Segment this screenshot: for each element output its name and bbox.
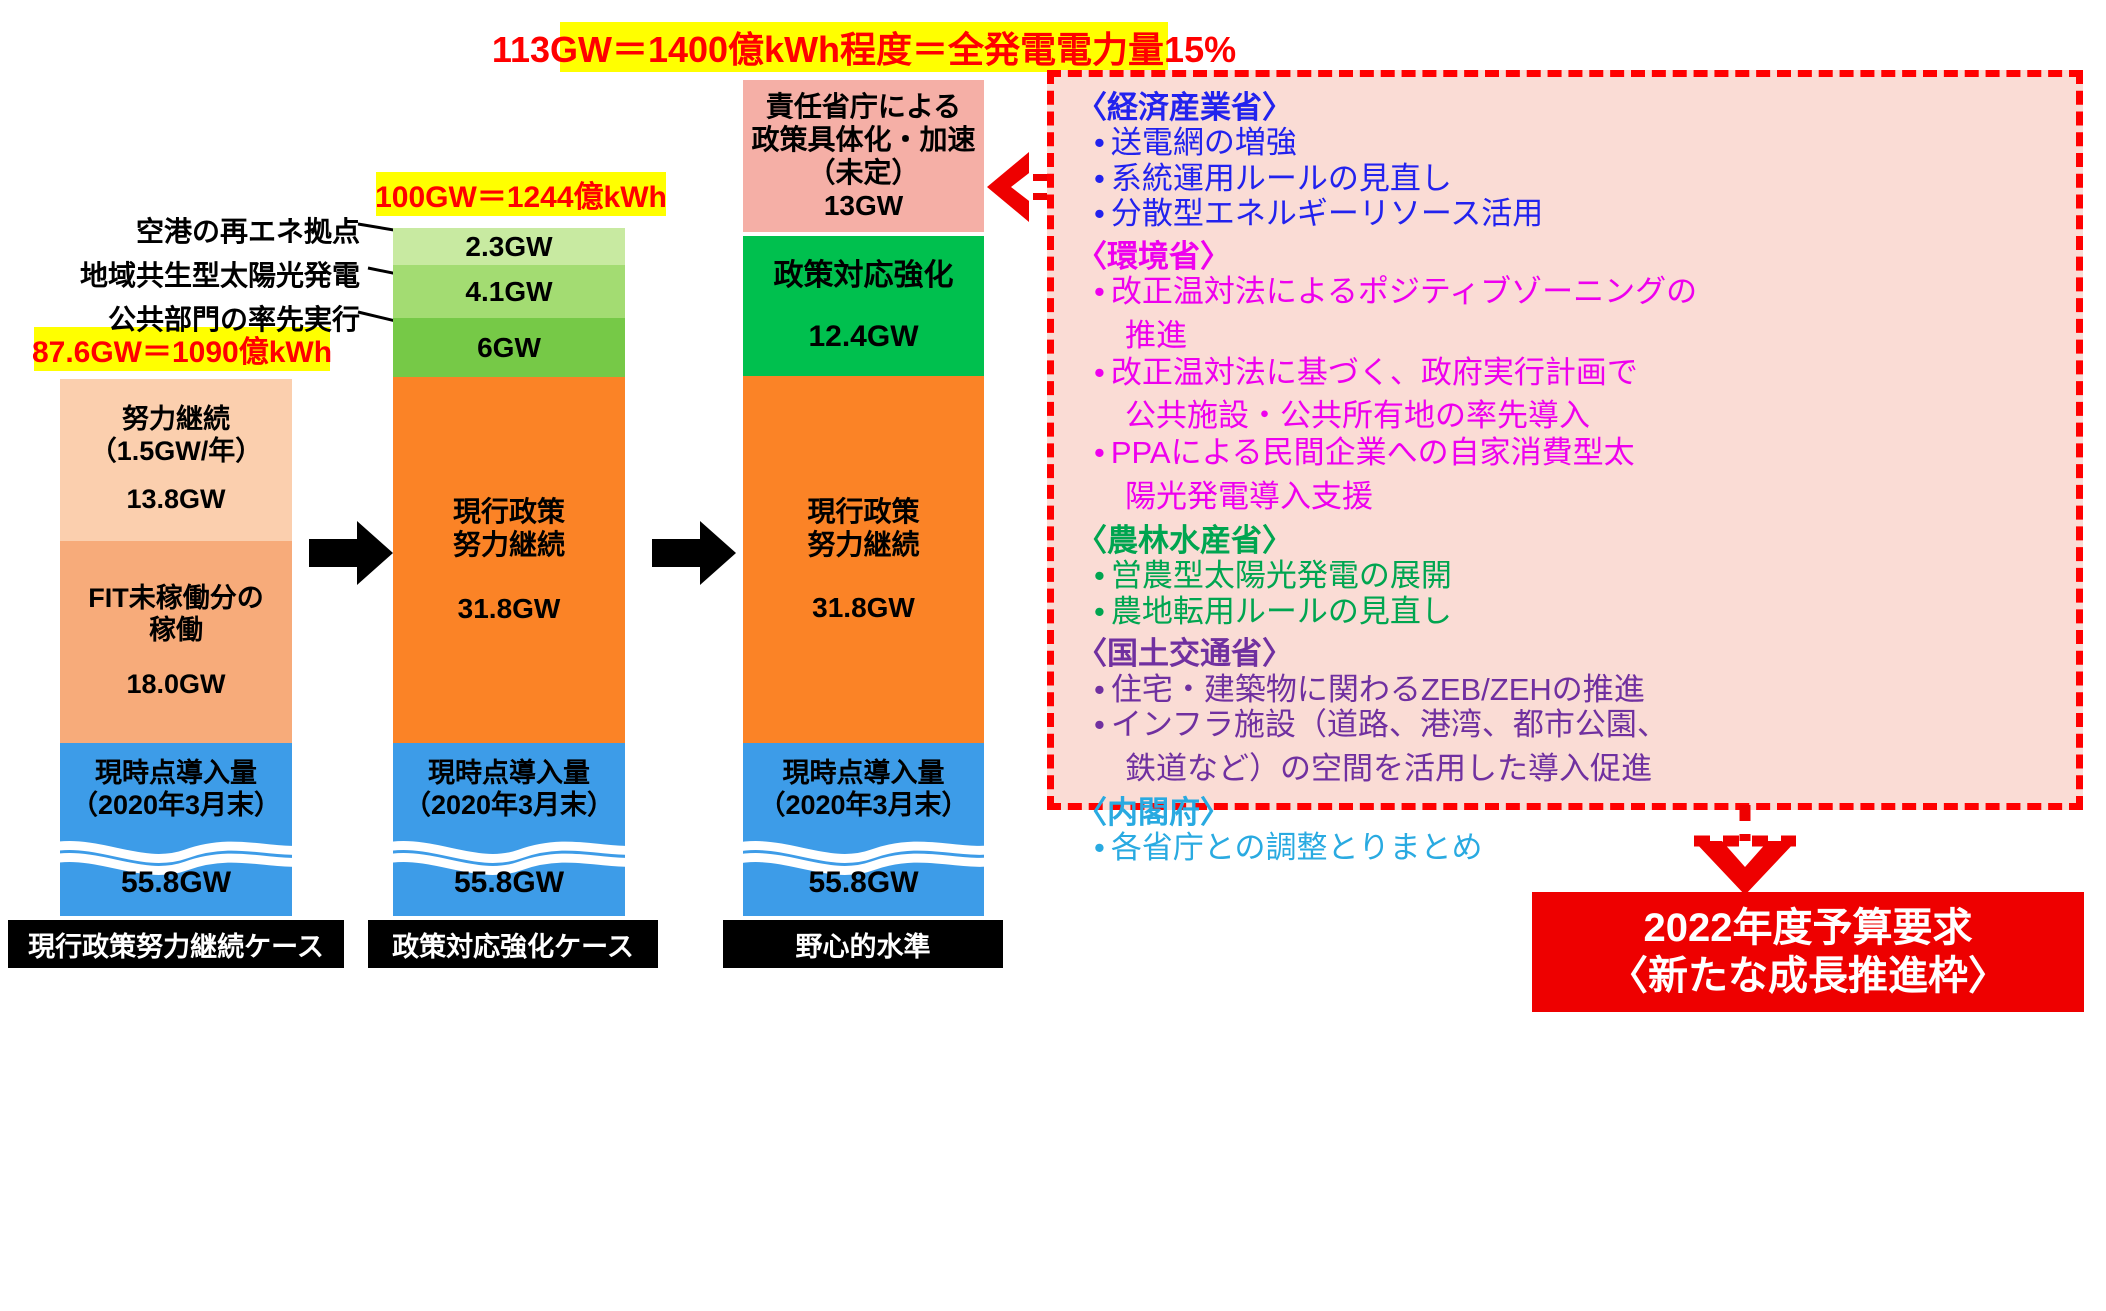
col2-segment-current-sub: （2020年3月末）: [404, 790, 614, 822]
col3-segment-ministry-sub2: （未定）: [807, 156, 919, 189]
col1-segment-fit-value: 18.0GW: [126, 669, 225, 701]
col2-segment-continued-title: 現行政策: [453, 495, 565, 528]
ministry-item: • 改正温対法に基づく、政府実行計画で: [1094, 355, 2056, 391]
col2-segment-public: 6GW: [393, 318, 625, 377]
bullet-icon: •: [1094, 196, 1105, 232]
col3-segment-ministry-title: 責任省庁による: [766, 90, 961, 123]
col1-segment-current-sub: （2020年3月末）: [71, 790, 281, 822]
ministry-item: • PPAによる民間企業への自家消費型太: [1094, 435, 2056, 471]
col2-segment-public-value: 6GW: [477, 331, 541, 364]
col1-segment-effort-value: 13.8GW: [126, 484, 225, 516]
ministry-head-maff: 〈農林水産省〉: [1076, 524, 2056, 558]
callout-public-sector: 公共部門の率先実行: [90, 298, 360, 332]
bullet-icon: •: [1094, 707, 1105, 743]
col2-segment-current-title: 現時点導入量: [428, 758, 590, 790]
banner-strengthened-total: 100GW＝1244億kWh: [376, 172, 666, 216]
ministry-item: • 改正温対法によるポジティブゾーニングの: [1094, 274, 2056, 310]
ministry-item-text: 各省庁との調整とりまとめ: [1111, 830, 1483, 866]
col1-segment-fit-title: FIT未稼働分の: [88, 583, 264, 615]
col1-segment-fit: FIT未稼働分の 稼働 18.0GW: [60, 541, 292, 743]
ministry-item-cont: 鉄道など）の空間を活用した導入促進: [1094, 743, 2056, 788]
col1-case-tag: 現行政策努力継続ケース: [8, 920, 344, 968]
col3-segment-strengthened-value: 12.4GW: [808, 319, 918, 354]
col2-segment-airport-value: 2.3GW: [465, 230, 552, 263]
ministry-item: • 営農型太陽光発電の展開: [1094, 558, 2056, 594]
bullet-icon: •: [1094, 435, 1105, 471]
col3-segment-current-title: 現時点導入量: [783, 758, 945, 790]
col1-segment-fit-sub: 稼働: [149, 615, 203, 647]
bullet-icon: •: [1094, 274, 1105, 310]
col2-segment-community: 4.1GW: [393, 265, 625, 318]
col3-segment-continued: 現行政策 努力継続 31.8GW: [743, 376, 984, 743]
ministry-item-text: 営農型太陽光発電の展開: [1111, 558, 1452, 594]
ministry-item: • 系統運用ルールの見直し: [1094, 161, 2056, 197]
ministry-head-moe: 〈環境省〉: [1076, 240, 2056, 274]
col3-segment-strengthened: 政策対応強化 12.4GW: [743, 236, 984, 376]
ministry-item-text: 改正温対法に基づく、政府実行計画で: [1111, 355, 1638, 391]
ministry-item: • 分散型エネルギーリソース活用: [1094, 196, 2056, 232]
col1-segment-effort-title: 努力継続: [122, 404, 230, 436]
bullet-icon: •: [1094, 355, 1105, 391]
col2-segment-current-value: 55.8GW: [393, 862, 625, 904]
ministry-item-text: 送電網の増強: [1111, 125, 1297, 161]
callout-airport: 空港の再エネ拠点: [90, 210, 360, 244]
ministry-head-cao: 〈内閣府〉: [1076, 796, 2056, 830]
ministry-item: • 送電網の増強: [1094, 125, 2056, 161]
bullet-icon: •: [1094, 672, 1105, 708]
bullet-icon: •: [1094, 125, 1105, 161]
col3-segment-continued-value: 31.8GW: [812, 591, 915, 624]
ministry-item: • 各省庁との調整とりまとめ: [1094, 830, 2056, 866]
ministry-item: • 農地転用ルールの見直し: [1094, 594, 2056, 630]
ministry-item-text: 農地転用ルールの見直し: [1111, 594, 1452, 630]
budget-line-1: 2022年度予算要求: [1644, 904, 1973, 952]
col3-segment-strengthened-title: 政策対応強化: [774, 258, 954, 293]
col1-segment-current-value: 55.8GW: [60, 862, 292, 904]
ministry-head-mlit: 〈国土交通省〉: [1076, 637, 2056, 671]
ministry-head-meti: 〈経済産業省〉: [1076, 91, 2056, 125]
ministry-item: • インフラ施設（道路、港湾、都市公園、: [1094, 707, 2056, 743]
col1-segment-effort: 努力継続 （1.5GW/年） 13.8GW: [60, 379, 292, 541]
col3-case-tag: 野心的水準: [723, 920, 1003, 968]
budget-request-box: 2022年度予算要求 〈新たな成長推進枠〉: [1532, 892, 2084, 1012]
col3-segment-continued-sub: 努力継続: [807, 528, 919, 561]
ministries-panel: 〈経済産業省〉 • 送電網の増強 • 系統運用ルールの見直し • 分散型エネルギ…: [1047, 70, 2083, 810]
ministry-item-text: 系統運用ルールの見直し: [1111, 161, 1452, 197]
col3-segment-ministry-value: 13GW: [824, 189, 903, 222]
ministry-item-text: PPAによる民間企業への自家消費型太: [1111, 435, 1635, 471]
ministry-item-text: 分散型エネルギーリソース活用: [1111, 196, 1543, 232]
ministry-item-cont: 陽光発電導入支援: [1094, 471, 2056, 516]
bullet-icon: •: [1094, 161, 1105, 197]
col3-segment-current-value: 55.8GW: [743, 862, 984, 904]
col2-segment-community-value: 4.1GW: [465, 275, 552, 308]
ministry-item: • 住宅・建築物に関わるZEB/ZEHの推進: [1094, 672, 2056, 708]
col3-segment-ministry: 責任省庁による 政策具体化・加速 （未定） 13GW: [743, 80, 984, 232]
ministry-item-text: 改正温対法によるポジティブゾーニングの: [1111, 274, 1697, 310]
arrow-right-1-icon: [305, 515, 397, 591]
ministry-item-text: 住宅・建築物に関わるZEB/ZEHの推進: [1111, 672, 1645, 708]
arrow-right-2-icon: [648, 515, 740, 591]
col3-segment-current-sub: （2020年3月末）: [758, 790, 968, 822]
ministry-item-text: インフラ施設（道路、港湾、都市公園、: [1111, 707, 1668, 743]
col2-segment-airport: 2.3GW: [393, 228, 625, 265]
col2-segment-continued: 現行政策 努力継続 31.8GW: [393, 377, 625, 743]
ministry-item-cont: 推進: [1094, 310, 2056, 355]
bullet-icon: •: [1094, 594, 1105, 630]
banner-ambitious-total: 113GW＝1400億kWh程度＝全発電電力量15%: [560, 22, 1168, 72]
budget-line-2: 〈新たな成長推進枠〉: [1608, 952, 2008, 1000]
red-dashed-down-arrow-icon: [1650, 805, 1840, 900]
bullet-icon: •: [1094, 558, 1105, 594]
col2-case-tag: 政策対応強化ケース: [368, 920, 658, 968]
callout-community-solar: 地域共生型太陽光発電: [50, 254, 360, 288]
col2-segment-continued-value: 31.8GW: [458, 592, 561, 625]
col3-segment-continued-title: 現行政策: [807, 495, 919, 528]
col1-segment-effort-sub: （1.5GW/年）: [90, 436, 263, 468]
col2-segment-continued-sub: 努力継続: [453, 528, 565, 561]
col3-segment-ministry-sub: 政策具体化・加速: [751, 123, 975, 156]
col1-segment-current-title: 現時点導入量: [95, 758, 257, 790]
ministry-item-cont: 公共施設・公共所有地の率先導入: [1094, 390, 2056, 435]
bullet-icon: •: [1094, 830, 1105, 866]
